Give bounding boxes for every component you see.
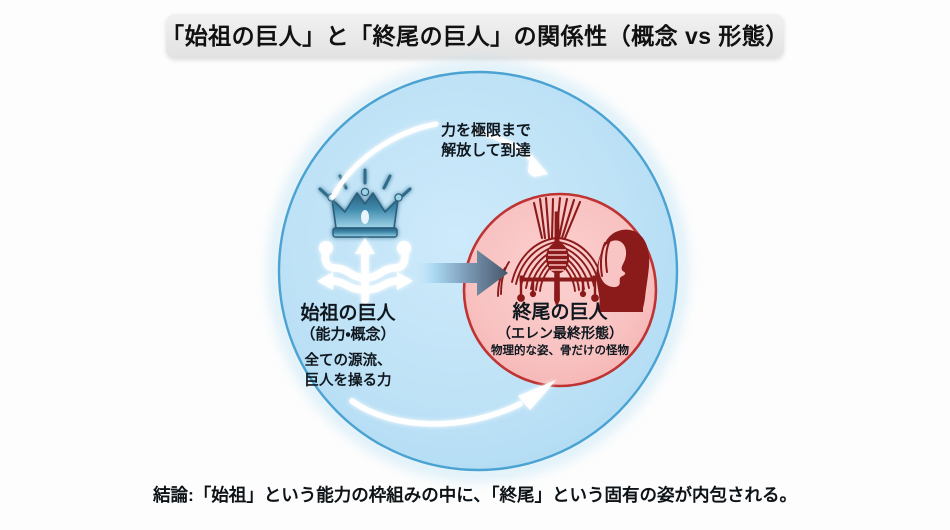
top-arrow-label-line2: 解放して到達 — [408, 141, 564, 161]
founding-titan-name: 始祖の巨人 — [258, 302, 438, 325]
conclusion-text: 結論:「始祖」という能力の枠組みの中に、「終尾」という固有の姿が内包される。 — [0, 482, 950, 507]
top-arrow-label: 力を極限まで 解放して到達 — [408, 121, 564, 162]
final-titan-description: 物理的な姿、骨だけの怪物 — [465, 344, 655, 358]
founding-titan-description: 全ての源流、 巨人を操る力 — [258, 352, 438, 391]
founding-titan-subtitle: （能力・概念） — [258, 326, 438, 344]
final-titan-subtitle: （エレン最終形態） — [475, 325, 645, 342]
slide-canvas: 「始祖の巨人」と「終尾の巨人」の関係性（概念 vs 形態） — [0, 0, 950, 530]
final-titan-name: 終尾の巨人 — [475, 301, 645, 324]
founding-desc-line2: 巨人を操る力 — [258, 372, 438, 392]
founding-desc-line1: 全ての源流、 — [258, 352, 438, 372]
relationship-diagram — [0, 0, 950, 530]
top-arrow-label-line1: 力を極限まで — [408, 121, 564, 141]
